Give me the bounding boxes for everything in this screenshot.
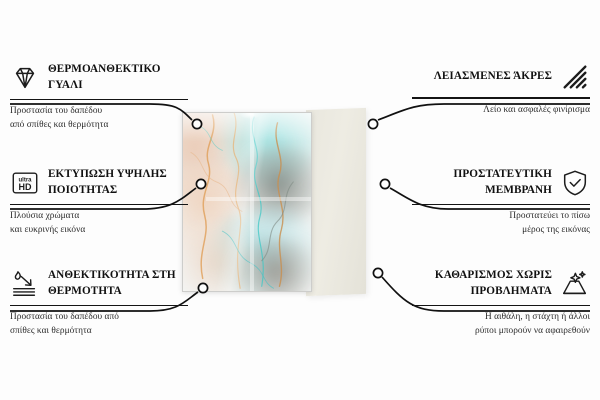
feature-description: Η αιθάλη, η στάχτη ή άλλοι ρύποι μπορούν…	[412, 311, 590, 337]
feature-header: ΚΑΘΑΡΙΣΜΟΣ ΧΩΡΙΣ ΠΡΟΒΛΗΜΑΤΑ	[412, 268, 590, 300]
shield-check-icon	[560, 168, 590, 198]
feature-header: ultra HD ΕΚΤΥΠΩΣΗ ΥΨΗΛΗΣ ΠΟΙΟΤΗΤΑΣ	[10, 167, 188, 199]
desc-line-1: Προστατεύει το πίσω	[412, 210, 590, 223]
feature-title: ΑΝΘΕΚΤΙΚΟΤΗΤΑ ΣΤΗ ΘΕΡΜΟΤΗΤΑ	[48, 268, 188, 300]
feature-description: Προστασία του δαπέδου από σπίθες και θερ…	[10, 311, 188, 337]
feature-description: Προστασία του δαπέδου από σπίθες και θερ…	[10, 105, 188, 131]
ultra-hd-icon: ultra HD	[10, 168, 40, 198]
feature-protective-membrane: ΠΡΟΣΤΑΤΕΥΤΙΚΗ ΜΕΜΒΡΑΝΗ Προστατεύει το πί…	[412, 167, 590, 237]
divider	[412, 97, 590, 99]
feature-header: ΛΕΙΑΣΜΕΝΕΣ ΆΚΡΕΣ	[412, 62, 590, 92]
desc-line-2: και ευκρινής εικόνα	[10, 224, 188, 237]
divider	[10, 305, 188, 307]
feature-smooth-edges: ΛΕΙΑΣΜΕΝΕΣ ΆΚΡΕΣ Λείο και ασφαλές φινίρι…	[412, 62, 590, 117]
feature-header: ΑΝΘΕΚΤΙΚΟΤΗΤΑ ΣΤΗ ΘΕΡΜΟΤΗΤΑ	[10, 268, 188, 300]
reflection-line-horizontal	[206, 197, 311, 201]
feature-title: ΘΕΡΜΟΑΝΘΕΚΤΙΚΟ ΓΥΑΛΙ	[48, 62, 188, 94]
desc-line-1: Προστασία του δαπέδου	[10, 105, 188, 118]
product-glass-front	[182, 112, 312, 292]
feature-description: Λείο και ασφαλές φινίρισμα	[412, 104, 590, 117]
feature-heat-resistant-glass: ΘΕΡΜΟΑΝΘΕΚΤΙΚΟ ΓΥΑΛΙ Προστασία του δαπέδ…	[10, 62, 188, 132]
feature-high-quality-print: ultra HD ΕΚΤΥΠΩΣΗ ΥΨΗΛΗΣ ΠΟΙΟΤΗΤΑΣ Πλούσ…	[10, 167, 188, 237]
infographic-root: ΘΕΡΜΟΑΝΘΕΚΤΙΚΟ ΓΥΑΛΙ Προστασία του δαπέδ…	[0, 0, 600, 400]
feature-title: ΚΑΘΑΡΙΣΜΟΣ ΧΩΡΙΣ ΠΡΟΒΛΗΜΑΤΑ	[412, 268, 552, 300]
feature-header: ΘΕΡΜΟΑΝΘΕΚΤΙΚΟ ΓΥΑΛΙ	[10, 62, 188, 94]
desc-line-1: Προστασία του δαπέδου από	[10, 311, 188, 324]
desc-line-2: από σπίθες και θερμότητα	[10, 119, 188, 132]
heat-resistance-icon	[10, 269, 40, 299]
divider	[10, 99, 188, 101]
feature-description: Πλούσια χρώματα και ευκρινής εικόνα	[10, 210, 188, 236]
diamond-icon	[10, 63, 40, 93]
product-back-panel	[306, 108, 366, 296]
smooth-edges-icon	[560, 62, 590, 92]
feature-header: ΠΡΟΣΤΑΤΕΥΤΙΚΗ ΜΕΜΒΡΑΝΗ	[412, 167, 590, 199]
feature-heat-durability: ΑΝΘΕΚΤΙΚΟΤΗΤΑ ΣΤΗ ΘΕΡΜΟΤΗΤΑ Προστασία το…	[10, 268, 188, 338]
feature-title: ΠΡΟΣΤΑΤΕΥΤΙΚΗ ΜΕΜΒΡΑΝΗ	[412, 167, 552, 199]
feature-title: ΛΕΙΑΣΜΕΝΕΣ ΆΚΡΕΣ	[434, 69, 552, 85]
desc-line-1: Πλούσια χρώματα	[10, 210, 188, 223]
divider	[412, 204, 590, 206]
feature-easy-cleaning: ΚΑΘΑΡΙΣΜΟΣ ΧΩΡΙΣ ΠΡΟΒΛΗΜΑΤΑ Η αιθάλη, η …	[412, 268, 590, 338]
feature-description: Προστατεύει το πίσω μέρος της εικόνας	[412, 210, 590, 236]
desc-line-2: σπίθες και θερμότητα	[10, 325, 188, 338]
ink-veins	[183, 113, 311, 290]
desc-line-2: ρύποι μπορούν να αφαιρεθούν	[412, 325, 590, 338]
reflection-line-vertical	[250, 113, 254, 291]
feature-title: ΕΚΤΥΠΩΣΗ ΥΨΗΛΗΣ ΠΟΙΟΤΗΤΑΣ	[48, 167, 188, 199]
desc-line-2: μέρος της εικόνας	[412, 224, 590, 237]
svg-text:HD: HD	[19, 182, 32, 192]
desc-line-1: Λείο και ασφαλές φινίρισμα	[412, 104, 590, 117]
divider	[412, 305, 590, 307]
product-image	[182, 112, 400, 292]
desc-line-1: Η αιθάλη, η στάχτη ή άλλοι	[412, 311, 590, 324]
divider	[10, 204, 188, 206]
easy-clean-icon	[560, 269, 590, 299]
